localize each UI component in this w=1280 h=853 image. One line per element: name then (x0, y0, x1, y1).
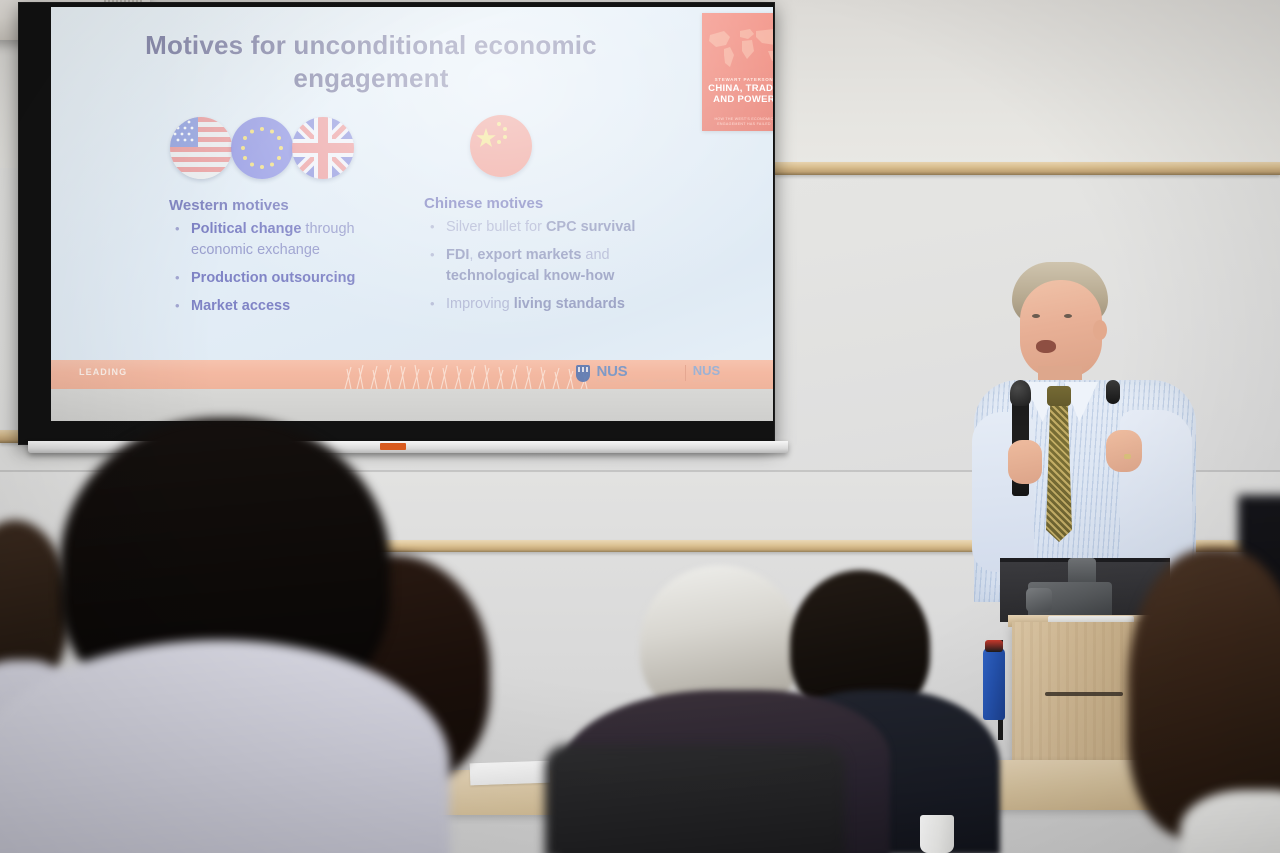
chinese-motives-bullets: Silver bullet for CPC survival FDI, expo… (424, 217, 659, 322)
bullet-item-occluded: Market access (169, 296, 359, 317)
banner-tagline: LEADING (79, 367, 127, 377)
paper-cup (920, 815, 954, 853)
flag-united-states-icon (170, 117, 232, 179)
flag-european-union-icon (231, 117, 293, 179)
world-map-icon (704, 21, 773, 73)
microphone-head-icon (1010, 380, 1031, 406)
nus-wordmark: NUS (597, 363, 678, 380)
book-subtitle: HOW THE WEST'S ECONOMIC ENGAGEMENT HAS F… (706, 117, 773, 127)
audience-chair-back (545, 745, 845, 853)
lectern-handle-slot[interactable] (1045, 692, 1123, 696)
speaker-hand-right (1106, 430, 1142, 472)
bullet-item: Silver bullet for CPC survival (424, 217, 659, 238)
column-heading-western: Western motives (169, 197, 289, 214)
book-author: STEWART PATERSON (702, 77, 773, 82)
nus-business-subtitle: BUSINESS SCHOOL (693, 378, 731, 383)
projection-screen-frame: Motives for unconditional economic engag… (18, 2, 775, 445)
grass-graphic-icon (341, 363, 601, 389)
nus-wordmark-subtitle: NATIONAL UNIVERSITY OF SINGAPORE (597, 379, 678, 383)
microphone-secondary-icon (1106, 380, 1120, 404)
speaker-eye-left (1032, 314, 1040, 318)
bullet-item: Improving living standards (424, 294, 659, 315)
bullet-item: FDI, export markets and technological kn… (424, 245, 659, 287)
book-cover-image: STEWART PATERSON CHINA, TRADE AND POWER … (702, 13, 773, 131)
fire-extinguisher (983, 648, 1005, 720)
wood-wall-rail-right (775, 162, 1280, 175)
speaker-head (1020, 280, 1102, 378)
speaker-ring (1124, 454, 1131, 459)
bullet-item: Political change through economic exchan… (169, 219, 359, 261)
slide-title: Motives for unconditional economic engag… (111, 29, 631, 95)
slide-bottom-grey-strip (51, 389, 773, 421)
projector-glare (51, 7, 773, 421)
nus-business-wordmark: NUS (693, 363, 731, 378)
flag-united-kingdom-icon (292, 117, 354, 179)
speaker-tie-knot (1047, 386, 1071, 406)
speaker-mouth (1036, 340, 1056, 353)
speaker-eye-right (1064, 314, 1072, 318)
bullet-item: Production outsourcing (169, 268, 359, 289)
column-heading-chinese: Chinese motives (424, 195, 543, 212)
speaker-hand-left (1008, 440, 1042, 484)
western-motives-bullets: Political change through economic exchan… (169, 219, 359, 324)
logo-divider (685, 365, 686, 381)
screen-orange-label (380, 443, 406, 450)
slide-footer-banner: LEADING NUS NATIONAL UNIVER (51, 360, 773, 389)
book-title: CHINA, TRADE AND POWER (702, 84, 773, 105)
document-camera-lens-icon (1026, 588, 1052, 612)
fire-extinguisher-nozzle-icon (985, 640, 1003, 652)
lecture-hall-photo: N Motives for unconditional economic eng… (0, 0, 1280, 853)
presentation-slide: Motives for unconditional economic engag… (51, 7, 773, 421)
nus-logo-group: NUS NATIONAL UNIVERSITY OF SINGAPORE NUS… (576, 363, 731, 383)
flag-china-icon (470, 115, 532, 177)
paper-sheet (470, 761, 551, 786)
projector-brand-label: N (0, 0, 9, 2)
nus-crest-shield-icon (576, 365, 590, 382)
speaker-presenter (960, 262, 1210, 602)
speaker-ear (1093, 320, 1107, 340)
